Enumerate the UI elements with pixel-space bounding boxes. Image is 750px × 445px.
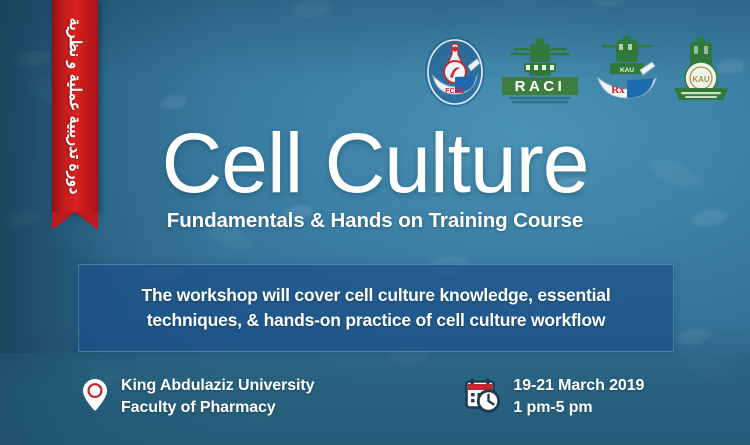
location-info: King Abdulaziz University Faculty of Pha… [82, 375, 314, 419]
event-poster: دورة تدريبية عملية و نظرية FCBU [0, 0, 750, 445]
map-pin-icon [82, 378, 108, 417]
footer-band: King Abdulaziz University Faculty of Pha… [0, 353, 750, 445]
fcbu-logo: FCBU [424, 36, 486, 108]
description-line-2: techniques, & hands-on practice of cell … [147, 310, 605, 330]
page-title: Cell Culture [0, 124, 750, 203]
date-info: 19-21 March 2019 1 pm-5 pm [464, 375, 644, 419]
date-line-1: 19-21 March 2019 [513, 375, 644, 397]
svg-text:Rx: Rx [611, 84, 625, 96]
date-line-2: 1 pm-5 pm [513, 397, 644, 419]
raci-logo: RACI [496, 36, 584, 108]
university-seal-logo: KAU [670, 36, 732, 108]
logo-strip: FCBU RACI [424, 36, 732, 108]
description-text: The workshop will cover cell culture kno… [131, 283, 620, 334]
location-line-2: Faculty of Pharmacy [121, 397, 314, 419]
pharmacy-college-logo: KAU Rx [594, 36, 660, 108]
svg-text:FCBU: FCBU [445, 88, 464, 95]
page-subtitle: Fundamentals & Hands on Training Course [0, 209, 750, 233]
description-line-1: The workshop will cover cell culture kno… [141, 285, 610, 305]
description-panel: The workshop will cover cell culture kno… [78, 264, 674, 352]
location-line-1: King Abdulaziz University [121, 375, 314, 397]
svg-text:RACI: RACI [515, 78, 566, 95]
svg-text:KAU: KAU [620, 67, 634, 74]
svg-text:KAU: KAU [692, 75, 710, 84]
calendar-clock-icon [464, 377, 500, 418]
title-block: Cell Culture Fundamentals & Hands on Tra… [0, 124, 750, 233]
